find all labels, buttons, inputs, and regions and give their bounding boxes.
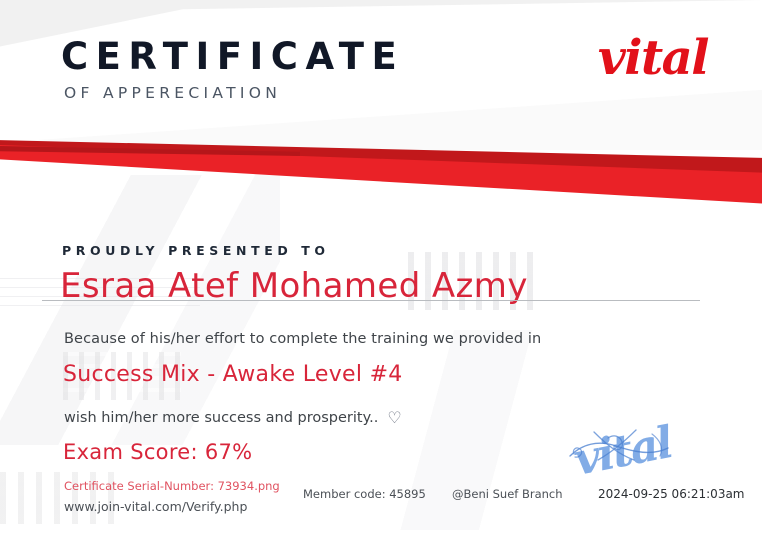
handwritten-signature-icon bbox=[564, 420, 714, 482]
page-title: CERTIFICATE bbox=[61, 38, 404, 75]
vital-logo: vital bbox=[598, 34, 708, 82]
certificate-title-block: CERTIFICATE OF APPERECIATION bbox=[61, 38, 404, 102]
certificate-serial-number: Certificate Serial-Number: 73934.png bbox=[64, 479, 280, 493]
heart-icon: ♡ bbox=[387, 410, 401, 426]
verify-url[interactable]: www.join-vital.com/Verify.php bbox=[64, 499, 247, 514]
name-underline-rule bbox=[42, 300, 700, 301]
presented-to-label: PROUDLY PRESENTED TO bbox=[62, 243, 330, 258]
certificate-document: CERTIFICATE OF APPERECIATION vital PROUD… bbox=[0, 0, 762, 539]
member-code: Member code: 45895 bbox=[303, 487, 426, 501]
signature-stamp: vital bbox=[566, 418, 716, 490]
course-name: Success Mix - Awake Level #4 bbox=[63, 362, 403, 387]
wish-text: wish him/her more success and prosperity… bbox=[64, 410, 378, 426]
page-subtitle: OF APPERECIATION bbox=[64, 84, 404, 102]
wish-text-row: wish him/her more success and prosperity… bbox=[64, 410, 402, 426]
reason-text: Because of his/her effort to complete th… bbox=[64, 331, 541, 347]
branch-name: @Beni Suef Branch bbox=[452, 487, 563, 501]
exam-score: Exam Score: 67% bbox=[63, 440, 252, 464]
